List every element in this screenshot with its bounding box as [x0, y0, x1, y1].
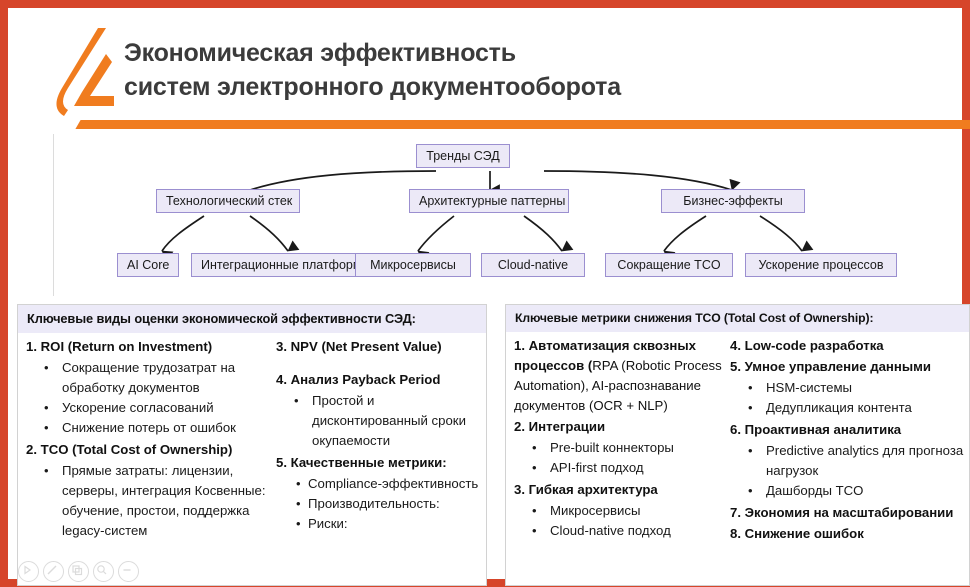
list-item: Риски:	[294, 514, 482, 534]
list-item-scaling-savings: 7. Экономия на масштабировании	[730, 503, 967, 523]
list-item: HSM-системы	[730, 378, 967, 398]
list-item-roi: 1. ROI (Return on Investment)	[26, 337, 268, 357]
tree-leaf-tco-reduction[interactable]: Сокращение TCO	[605, 253, 733, 277]
panel-right-column-b: 4. Low-code разработка 5. Умное управлен…	[726, 336, 969, 545]
panel-left-header: Ключевые виды оценки экономической эффек…	[18, 305, 486, 333]
panel-right-column-a: 1. Автоматизация сквозных процессов (RPA…	[506, 336, 726, 545]
bullets-payback: Простой и дисконтированный сроки окупаем…	[276, 391, 482, 451]
tree-leaf-integration-platforms[interactable]: Интеграционные платформы	[191, 253, 379, 277]
bullets-smart-data: HSM-системы Дедупликация контента	[730, 378, 967, 418]
list-item-proactive-analytics: 6. Проактивная аналитика	[730, 420, 967, 440]
list-item: Простой и дисконтированный сроки окупаем…	[276, 391, 482, 451]
tree-leaf-process-acceleration[interactable]: Ускорение процессов	[745, 253, 897, 277]
minus-icon	[118, 561, 139, 582]
copy-icon	[68, 561, 89, 582]
double-slash-logo-icon	[38, 26, 116, 121]
bullets-integrations: Pre-built коннекторы API-first подход	[514, 438, 724, 478]
title-line-1: Экономическая эффективность	[124, 36, 944, 70]
tree-node-branch-1[interactable]: Технологический стек	[156, 189, 300, 213]
list-item-tco: 2. TCO (Total Cost of Ownership)	[26, 440, 268, 460]
slide-frame: Экономическая эффективность систем элект…	[0, 0, 970, 587]
list-item-lowcode: 4. Low-code разработка	[730, 336, 967, 356]
list-item: Cloud-native подход	[514, 521, 724, 541]
bullets-qualitative: Compliance-эффективность Производительно…	[276, 474, 482, 534]
list-item: Микросервисы	[514, 501, 724, 521]
zoom-icon	[93, 561, 114, 582]
list-item-flexible-architecture: 3. Гибкая архитектура	[514, 480, 724, 500]
list-item: Pre-built коннекторы	[514, 438, 724, 458]
tree-node-root[interactable]: Тренды СЭД	[416, 144, 510, 168]
list-item-payback: 4. Анализ Payback Period	[276, 370, 482, 390]
edit-icon	[43, 561, 64, 582]
list-item: Predictive analytics для прогноза нагруз…	[730, 441, 967, 481]
tree-leaf-microservices[interactable]: Микросервисы	[355, 253, 471, 277]
panel-evaluation-types: Ключевые виды оценки экономической эффек…	[17, 304, 487, 586]
title-underline	[101, 120, 970, 129]
tree-leaf-ai-core[interactable]: AI Core	[117, 253, 179, 277]
list-item: Дедупликация контента	[730, 398, 967, 418]
bullets-proactive-analytics: Predictive analytics для прогноза нагруз…	[730, 441, 967, 501]
tree-node-branch-3[interactable]: Бизнес-эффекты	[661, 189, 805, 213]
list-item-npv: 3. NPV (Net Present Value)	[276, 337, 482, 357]
play-icon	[18, 561, 39, 582]
list-item: Ускорение согласований	[26, 398, 268, 418]
tree-leaf-cloud-native[interactable]: Cloud-native	[481, 253, 585, 277]
list-item: Производительность:	[294, 494, 482, 514]
bullets-roi: Сокращение трудозатрат на обработку доку…	[26, 358, 268, 438]
panel-tco-metrics: Ключевые метрики снижения TCO (Total Cos…	[505, 304, 970, 586]
list-item: Сокращение трудозатрат на обработку доку…	[26, 358, 268, 398]
list-item: Прямые затраты: лицензии, серверы, интег…	[26, 461, 268, 541]
list-item-smart-data: 5. Умное управление данными	[730, 357, 967, 377]
list-item-integrations: 2. Интеграции	[514, 417, 724, 437]
panel-right-header: Ключевые метрики снижения TCO (Total Cos…	[506, 305, 969, 332]
slide-header: Экономическая эффективность систем элект…	[16, 16, 970, 128]
trends-tree-diagram: Тренды СЭД Технологический стек Архитект…	[53, 134, 939, 296]
bullets-tco: Прямые затраты: лицензии, серверы, интег…	[26, 461, 268, 541]
watermark-toolbar	[18, 561, 139, 582]
panel-left-column-b: 3. NPV (Net Present Value) 4. Анализ Pay…	[270, 337, 486, 543]
list-item-error-reduction: 8. Снижение ошибок	[730, 524, 967, 544]
list-item: API-first подход	[514, 458, 724, 478]
list-item: Compliance-эффективность	[294, 474, 482, 494]
page-title: Экономическая эффективность систем элект…	[124, 36, 944, 104]
list-item-automation: 1. Автоматизация сквозных процессов (RPA…	[514, 336, 724, 416]
tree-node-branch-2[interactable]: Архитектурные паттерны	[409, 189, 569, 213]
list-item-qualitative: 5. Качественные метрики:	[276, 453, 482, 473]
list-item: Дашборды TCO	[730, 481, 967, 501]
bullets-flexible-architecture: Микросервисы Cloud-native подход	[514, 501, 724, 541]
panel-left-column-a: 1. ROI (Return on Investment) Сокращение…	[18, 337, 270, 543]
list-item: Снижение потерь от ошибок	[26, 418, 268, 438]
title-line-2: систем электронного документооборота	[124, 70, 944, 104]
